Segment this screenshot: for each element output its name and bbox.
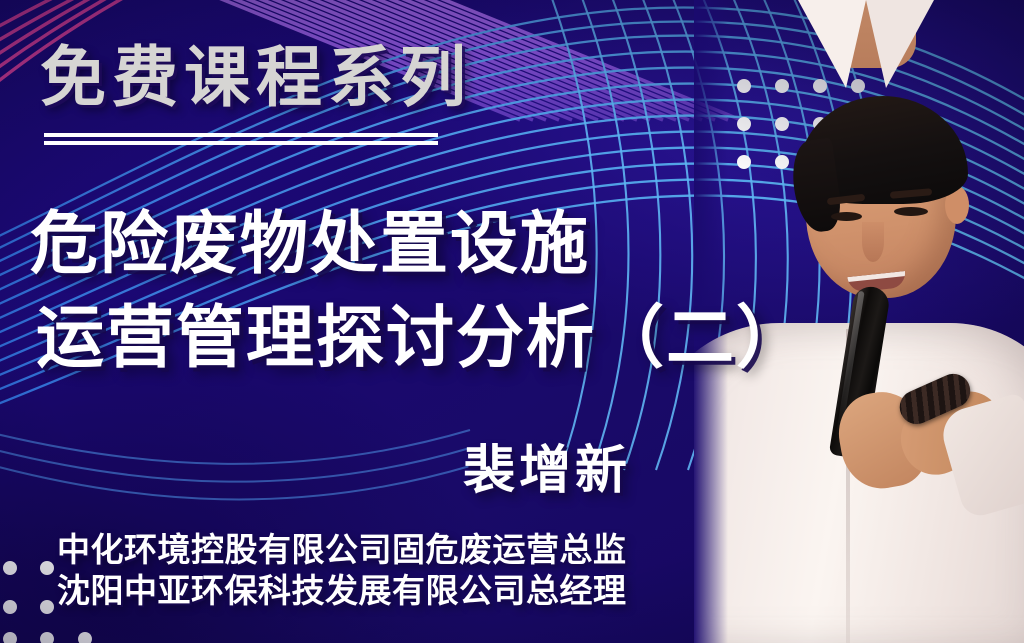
portrait-eye-right	[894, 207, 928, 216]
rule-line-top	[44, 133, 438, 137]
portrait-eye-left	[831, 212, 862, 221]
affiliation-line-1: 中化环境控股有限公司固危废运营总监	[57, 531, 657, 572]
portrait-collar-right	[866, 0, 934, 88]
portrait-collar-left	[798, 0, 866, 88]
double-rule-divider	[44, 133, 438, 145]
speaker-affiliations: 中化环境控股有限公司固危废运营总监 沈阳中亚环保科技发展有限公司总经理	[57, 531, 657, 614]
title-line-2: 运营管理探讨分析（二）	[30, 292, 750, 386]
course-poster: 免费课程系列 危险废物处置设施 运营管理探讨分析（二） 裴增新 中化环境控股有限…	[0, 0, 1024, 643]
rule-line-bottom	[44, 141, 438, 145]
course-title: 危险废物处置设施 运营管理探讨分析（二）	[30, 198, 750, 386]
portrait-nose	[862, 222, 884, 262]
portrait-hair	[798, 96, 968, 204]
title-line-1: 危险废物处置设施	[30, 198, 750, 292]
speaker-name: 裴增新	[463, 428, 631, 503]
kicker-heading: 免费课程系列	[40, 46, 472, 112]
affiliation-line-2: 沈阳中亚环保科技发展有限公司总经理	[57, 572, 657, 613]
